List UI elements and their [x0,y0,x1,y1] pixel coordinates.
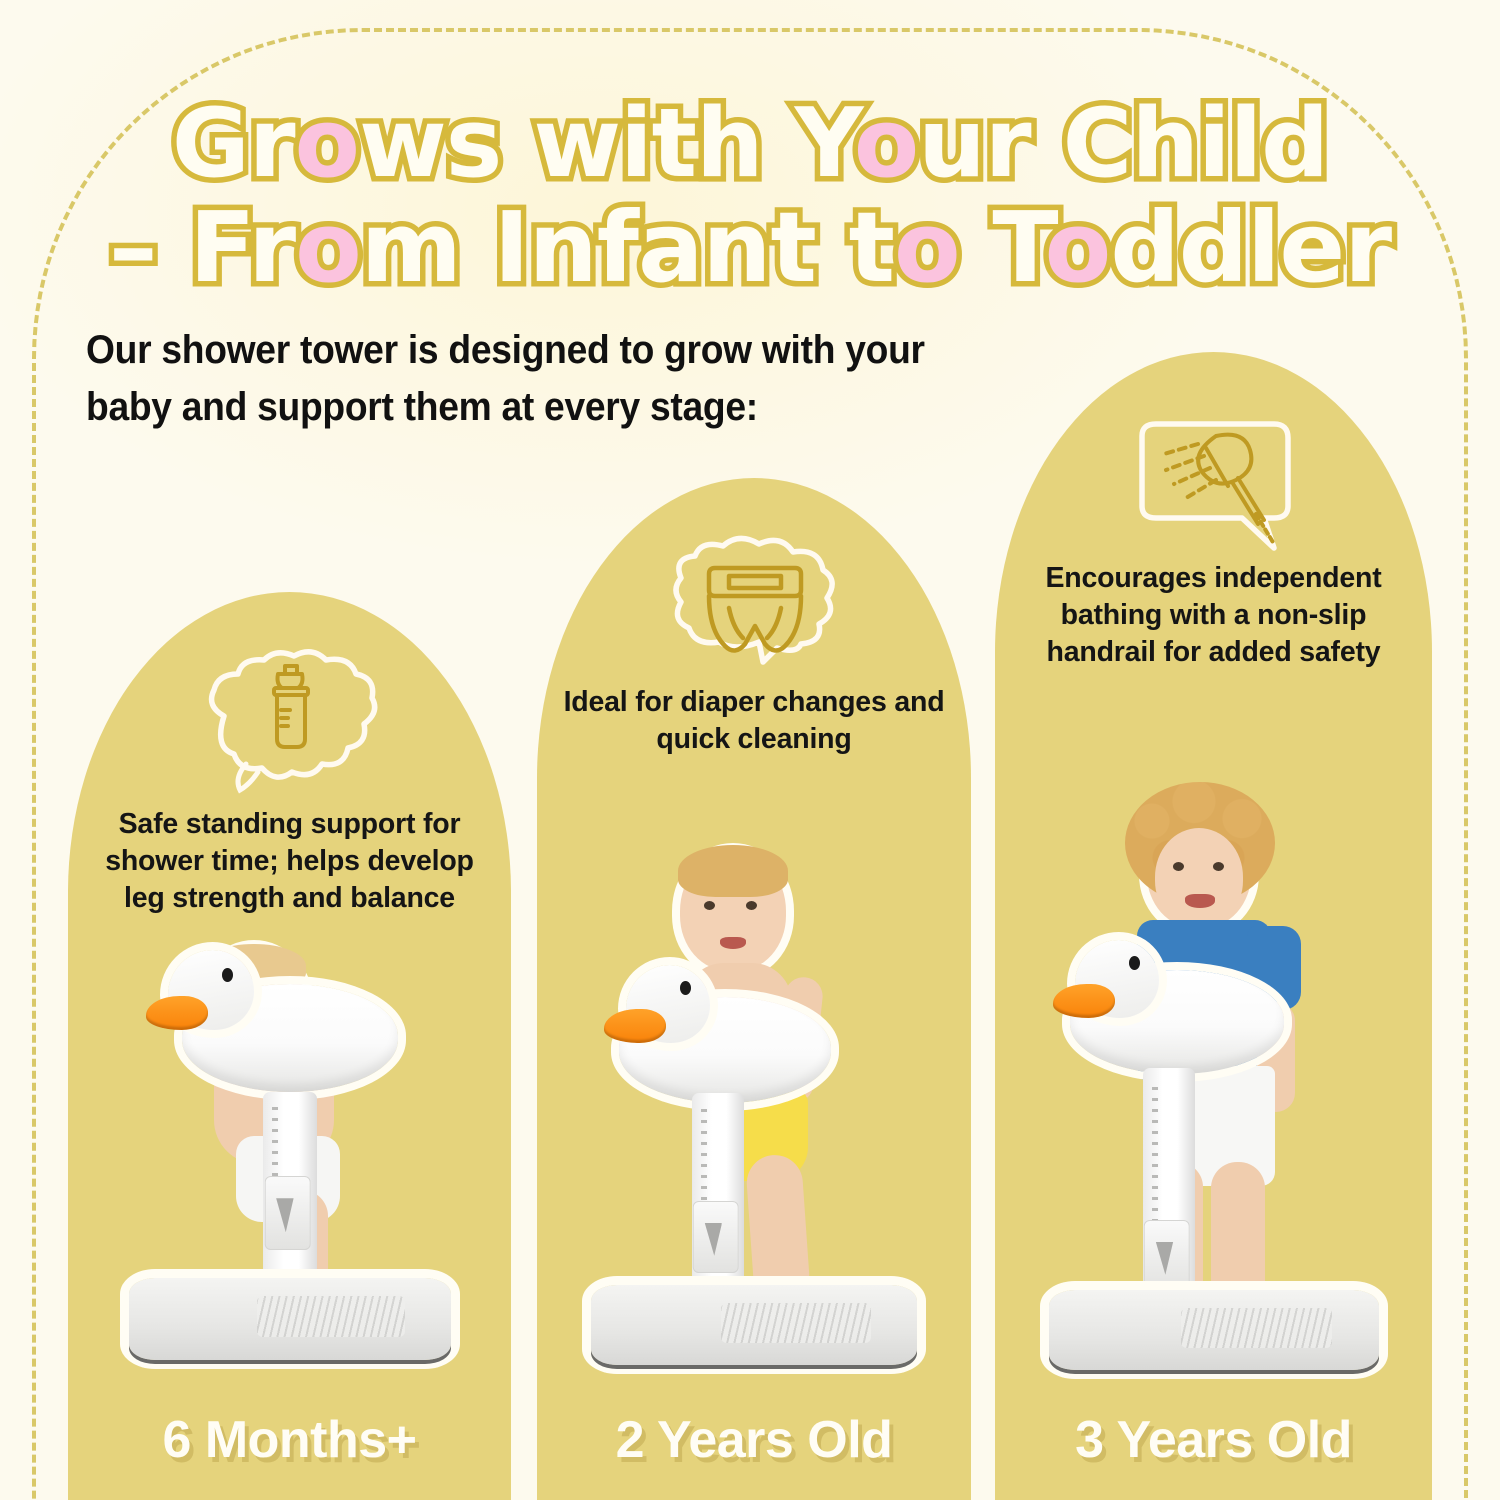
panel-caption-3: Encourages independent bathing with a no… [1012,560,1414,671]
panel-caption-2: Ideal for diaper changes and quick clean… [554,684,953,758]
icon-container-2 [537,530,971,682]
duck-eye [222,968,233,982]
product-photo-2-years [537,845,971,1365]
toddler-eye-right [746,901,757,910]
title-accent-o-5: o [1045,191,1111,304]
subtitle-line-1: Our shower tower is designed to grow wit… [86,322,1016,379]
age-label-2: 2 Years Old [537,1410,971,1470]
title-accent-o-1: o [295,89,359,199]
title-accent-o-2: o [854,89,918,199]
shower-head-icon [1106,402,1322,558]
toddler-mouth [720,937,746,949]
subtitle-line-2: baby and support them at every stage: [86,379,1016,436]
child-face [1155,828,1243,926]
title-seg-7: ddler [1110,191,1391,304]
product-photo-6-months [68,930,511,1360]
tower-base-platform-3 [1049,1290,1379,1370]
child-eye-left [1173,862,1184,871]
icon-container-1 [68,644,511,804]
age-label-3: 3 Years Old [995,1410,1432,1470]
duck-eye-2 [680,981,691,995]
baby-bottle-icon [184,644,396,804]
page-title-line-2: – From Infant to Toddler [0,199,1500,298]
page-title-line-1: Grows with Your Child [0,96,1500,193]
age-label-1: 6 Months+ [68,1410,511,1470]
photo-scene-2 [574,845,934,1365]
title-accent-o-3: o [295,191,361,304]
diaper-icon [647,530,861,682]
title-seg-4: – Fr [109,191,295,304]
title-seg-5: m Infant t [361,191,894,304]
title-accent-o-4: o [894,191,960,304]
toddler-eye-left [704,901,715,910]
toddler-leg-right [745,1153,811,1305]
duck-beak-3 [1053,984,1115,1018]
duck-beak [146,996,208,1030]
post-height-ticks-3 [1152,1087,1158,1223]
infographic-root: Grows with Your Child – From Infant to T… [0,0,1500,1500]
stage-panel-6-months: Safe standing support for shower time; h… [68,592,511,1500]
panel-caption-1: Safe standing support for shower time; h… [86,806,494,917]
photo-scene-3 [1029,770,1399,1370]
icon-container-3 [995,402,1432,558]
duck-beak-2 [604,1009,666,1043]
title-seg-6: T [960,191,1045,304]
stage-panel-3-years: Encourages independent bathing with a no… [995,352,1432,1500]
photo-scene-1 [110,940,470,1360]
duck-eye-3 [1129,956,1140,970]
tower-base-platform-2 [591,1285,917,1365]
child-mouth [1185,894,1215,908]
height-adjust-clamp [264,1176,310,1250]
title-seg-3: ur Child [918,89,1328,199]
tower-base-platform [129,1278,451,1360]
toddler-hair [678,845,788,897]
title-seg-2: ws with Y [359,89,854,199]
page-title: Grows with Your Child – From Infant to T… [0,96,1500,298]
height-adjust-clamp-2 [693,1201,739,1273]
child-eye-right [1213,862,1224,871]
height-adjust-clamp-3 [1144,1220,1190,1292]
product-photo-3-years [995,770,1432,1370]
page-subtitle: Our shower tower is designed to grow wit… [86,322,1016,436]
stage-panel-2-years: Ideal for diaper changes and quick clean… [537,478,971,1500]
title-seg-1: Gr [172,89,295,199]
